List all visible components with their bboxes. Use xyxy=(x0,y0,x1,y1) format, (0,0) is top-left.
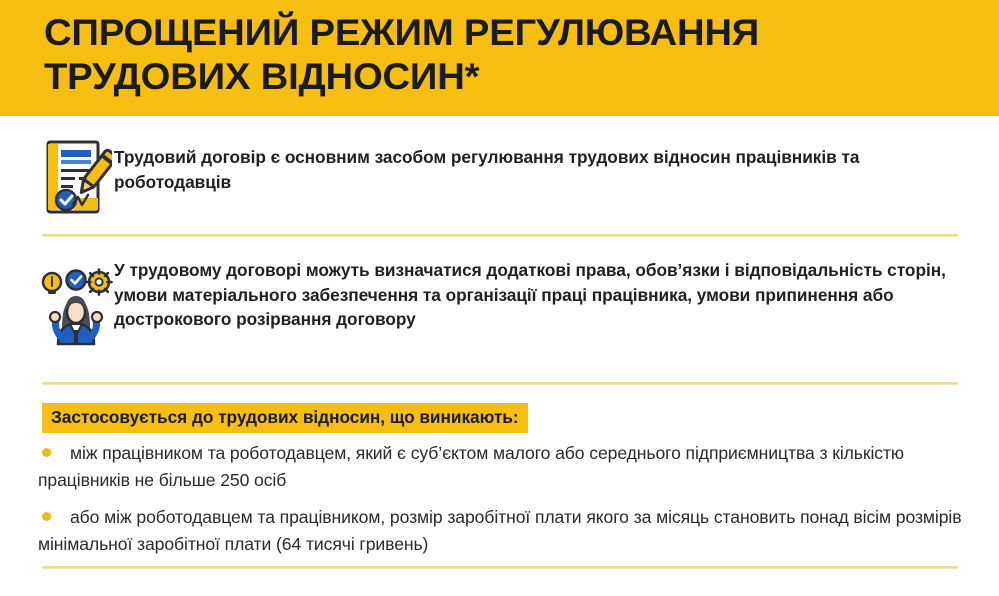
info-block-contract: Трудовий договір є основним засобом регу… xyxy=(38,136,968,218)
header-banner: СПРОЩЕНИЙ РЕЖИМ РЕГУЛЮВАННЯ ТРУДОВИХ ВІД… xyxy=(0,0,999,116)
applicability-list: між працівником та роботодавцем, який є … xyxy=(38,440,968,569)
list-item: між працівником та роботодавцем, який є … xyxy=(38,440,968,493)
section-heading: Застосовується до трудових відносин, що … xyxy=(42,403,528,433)
infographic-root: СПРОЩЕНИЙ РЕЖИМ РЕГУЛЮВАННЯ ТРУДОВИХ ВІД… xyxy=(0,0,999,596)
bullet-dot-icon xyxy=(42,448,51,457)
divider-line xyxy=(42,382,958,385)
info-block-terms-text: У трудовому договорі можуть визначатися … xyxy=(114,258,959,332)
divider-line xyxy=(42,234,958,237)
list-item: або між роботодавцем та працівником, роз… xyxy=(38,504,968,557)
divider-line xyxy=(42,566,958,569)
info-block-contract-text: Трудовий договір є основним засобом регу… xyxy=(114,136,944,194)
page-title: СПРОЩЕНИЙ РЕЖИМ РЕГУЛЮВАННЯ ТРУДОВИХ ВІД… xyxy=(44,11,977,98)
list-item-text: між працівником та роботодавцем, який є … xyxy=(38,443,904,490)
list-item-text: або між роботодавцем та працівником, роз… xyxy=(38,507,961,554)
info-block-terms: У трудовому договорі можуть визначатися … xyxy=(38,258,973,346)
worker-ideas-icon xyxy=(38,258,114,346)
bullet-dot-icon xyxy=(42,512,51,521)
signed-contract-icon xyxy=(38,136,114,218)
